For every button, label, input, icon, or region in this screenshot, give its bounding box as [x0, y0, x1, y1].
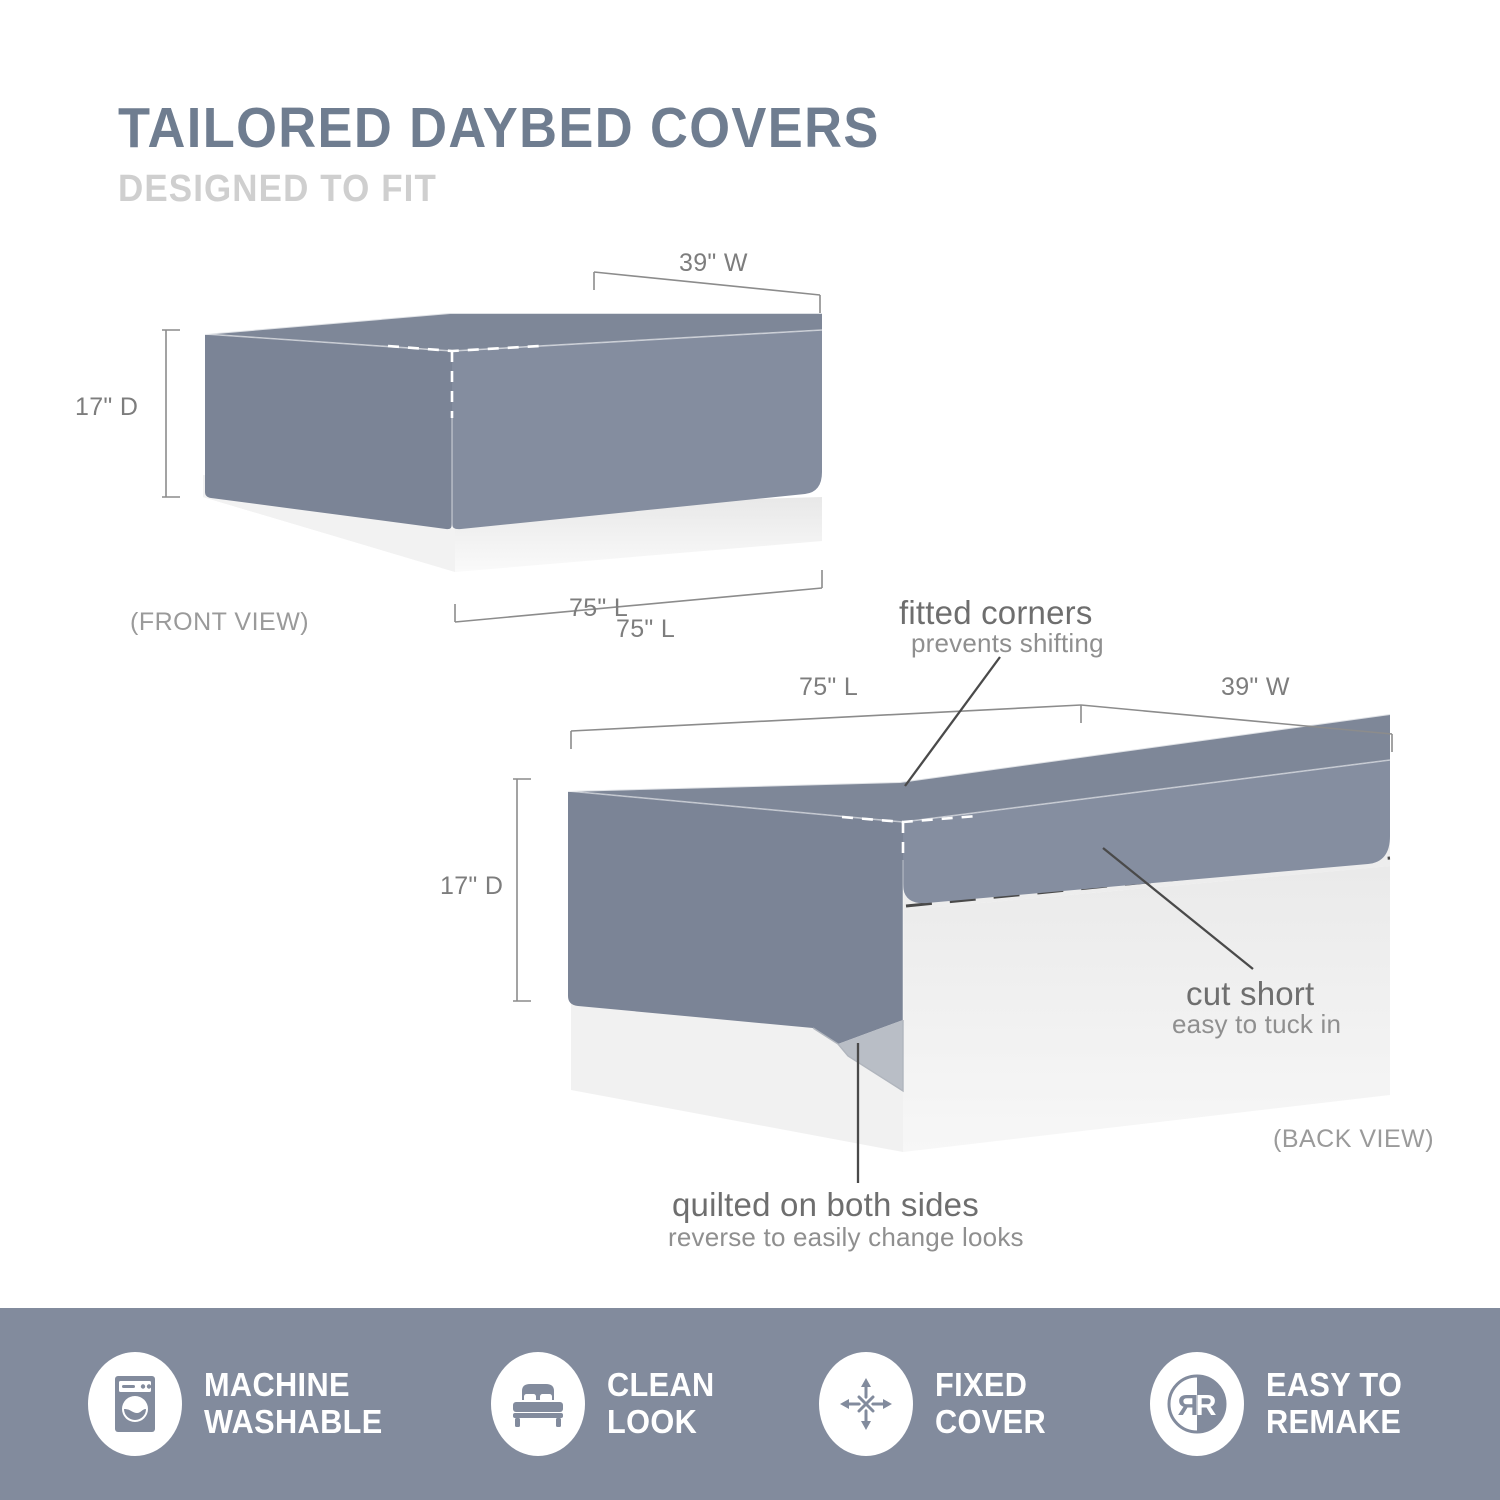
callout-fitted-corners-sub: prevents shifting	[911, 628, 1104, 659]
callout-cut-short-title: cut short	[1186, 975, 1314, 1013]
front-view-label: (FRONT VIEW)	[130, 608, 309, 637]
back-cover-left-face	[568, 791, 903, 1044]
front-dim-bracket-depth	[162, 330, 180, 497]
feature-line-1: FIXED	[935, 1367, 1046, 1404]
callout-quilted-sub: reverse to easily change looks	[668, 1222, 1024, 1253]
back-top-edge-highlight	[568, 714, 1390, 791]
bed-icon	[491, 1352, 585, 1456]
feature-clean-look-label: CLEAN LOOK	[607, 1367, 715, 1441]
callout-cut-short-sub: easy to tuck in	[1172, 1009, 1341, 1040]
front-ridge-highlight	[205, 330, 822, 351]
washing-machine-icon	[88, 1352, 182, 1456]
four-arrows-icon	[819, 1352, 913, 1456]
back-ridge-highlight	[568, 760, 1390, 822]
feature-line-1: MACHINE	[204, 1367, 383, 1404]
feature-line-2: REMAKE	[1266, 1404, 1402, 1441]
header: TAILORED DAYBED COVERS DESIGNED TO FIT	[118, 100, 1118, 208]
back-cover-right-face	[903, 760, 1390, 903]
back-tuck-dashed-line	[906, 858, 1390, 906]
feature-bar: MACHINE WASHABLE CLEAN LOOK	[0, 1308, 1500, 1500]
front-top-edge-highlight	[205, 313, 822, 334]
front-dim-bracket-width	[594, 272, 820, 313]
back-cover-corner-flap	[838, 1020, 903, 1091]
page-title: TAILORED DAYBED COVERS	[118, 100, 1038, 157]
leader-line-fitted-corners	[905, 657, 1000, 786]
feature-easy-to-remake: R R EASY TO REMAKE	[1150, 1352, 1412, 1456]
back-dim-label-width: 39" W	[1221, 673, 1290, 702]
back-view-label: (BACK VIEW)	[1273, 1125, 1434, 1154]
front-dim-label-width: 39" W	[679, 249, 748, 278]
feature-fixed-cover-label: FIXED COVER	[935, 1367, 1046, 1441]
diagram-artwork	[0, 0, 1500, 1500]
front-base-front-face	[203, 497, 822, 572]
svg-text:R: R	[1195, 1390, 1216, 1422]
back-dim-bracket-depth	[513, 779, 531, 1001]
front-cover-front-face	[452, 330, 822, 529]
back-view-illustration	[513, 657, 1392, 1183]
front-dim-label-depth: 17" D	[75, 393, 138, 422]
back-base-top-band	[571, 806, 1390, 910]
front-cover-top-face	[205, 313, 822, 351]
feature-machine-washable-label: MACHINE WASHABLE	[204, 1367, 383, 1441]
feature-line-1: EASY TO	[1266, 1367, 1402, 1404]
front-cover-left-face	[205, 334, 452, 529]
callout-quilted-title: quilted on both sides	[672, 1186, 979, 1224]
back-dim-label-length-top: 75" L	[569, 594, 628, 623]
front-seam-dash-top	[388, 346, 540, 351]
feature-line-2: LOOK	[607, 1404, 715, 1441]
reversible-r-icon: R R	[1150, 1352, 1244, 1456]
feature-line-1: CLEAN	[607, 1367, 715, 1404]
page-subtitle: DESIGNED TO FIT	[118, 170, 1038, 208]
feature-fixed-cover: FIXED COVER	[819, 1352, 1054, 1456]
feature-line-2: COVER	[935, 1404, 1046, 1441]
back-cover-top-face	[568, 714, 1390, 822]
back-base-left-face	[571, 806, 903, 1152]
feature-line-2: WASHABLE	[204, 1404, 383, 1441]
front-view-illustration	[162, 272, 822, 622]
infographic-page: TAILORED DAYBED COVERS DESIGNED TO FIT	[0, 0, 1500, 1500]
back-dim-label-length: 75" L	[799, 673, 858, 702]
back-dim-bracket-top	[571, 705, 1392, 752]
feature-clean-look: CLEAN LOOK	[491, 1352, 723, 1456]
front-base-left-face	[203, 475, 455, 572]
back-flap-outline	[813, 1020, 903, 1091]
back-dim-label-depth: 17" D	[440, 872, 503, 901]
callout-fitted-corners-title: fitted corners	[899, 594, 1093, 632]
leader-line-cut-short	[1103, 848, 1253, 969]
feature-machine-washable: MACHINE WASHABLE	[88, 1352, 396, 1456]
back-seam-dash-top	[842, 816, 977, 822]
feature-easy-to-remake-label: EASY TO REMAKE	[1266, 1367, 1402, 1441]
front-view-base	[203, 475, 822, 572]
